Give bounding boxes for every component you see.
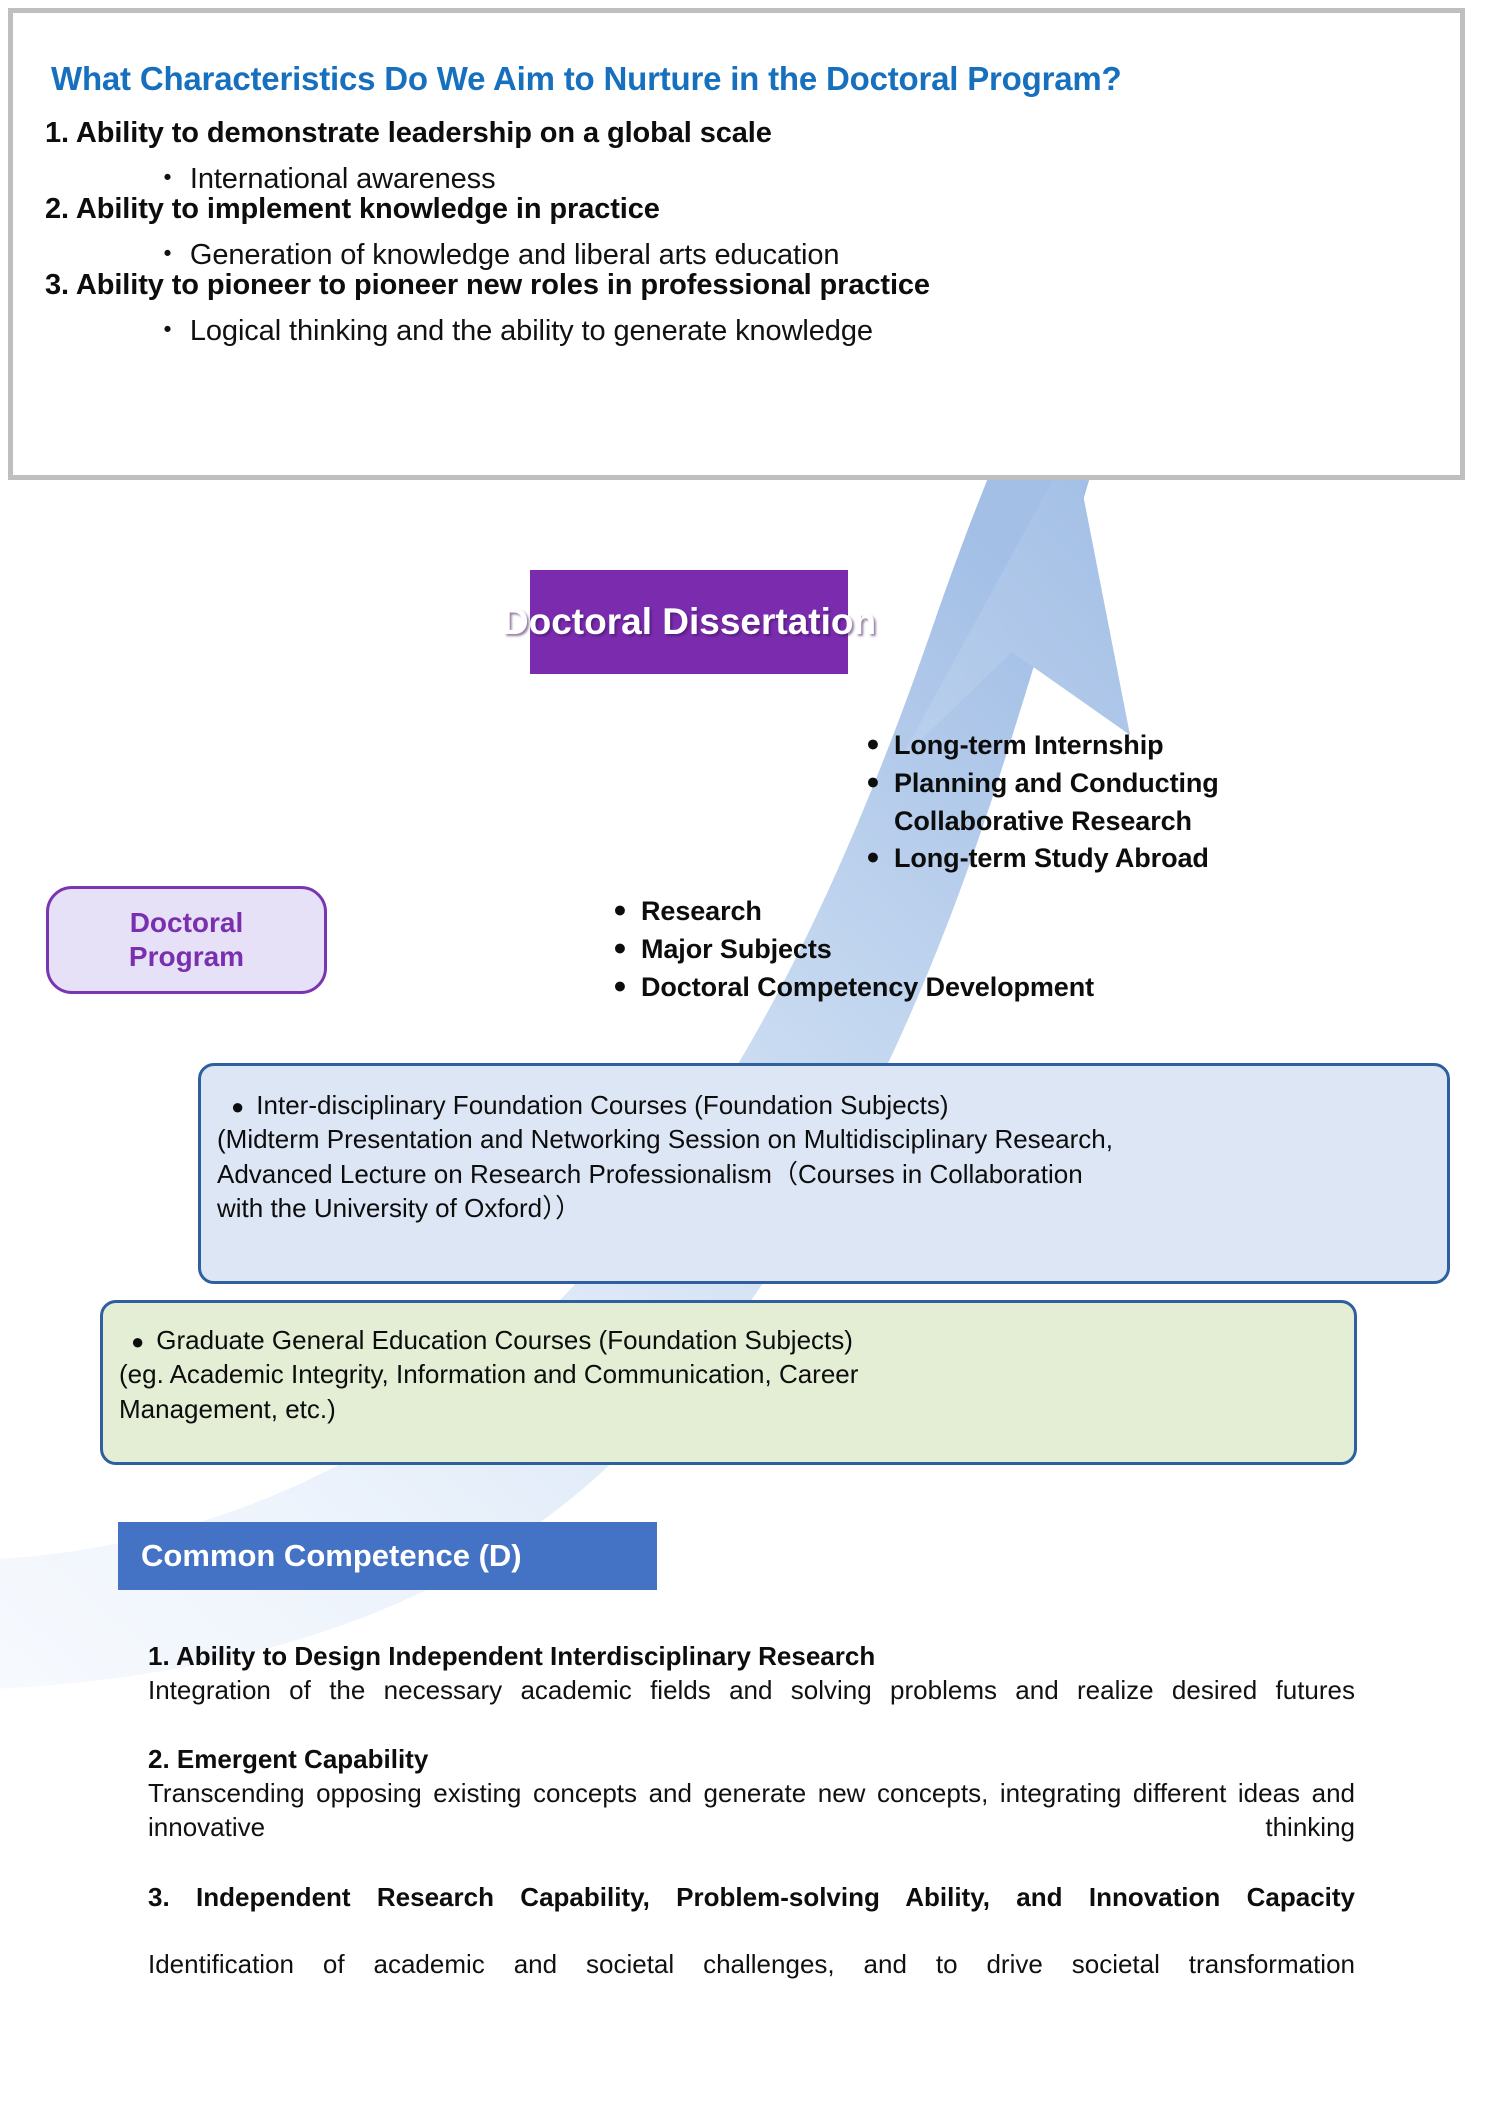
list-item-label: Long-term Study Abroad — [894, 840, 1209, 878]
arrow-head-shape — [900, 443, 1130, 760]
doctoral-dissertation-banner: Doctoral Dissertation — [530, 570, 848, 674]
foundation-courses-line-1: ●Inter-disciplinary Foundation Courses (… — [217, 1088, 1431, 1122]
interdisciplinary-foundation-courses-box: ●Inter-disciplinary Foundation Courses (… — [198, 1063, 1450, 1284]
list-item: ● Long-term Internship — [866, 727, 1219, 765]
list-item-label: Research — [641, 893, 762, 931]
characteristics-panel: What Characteristics Do We Aim to Nurtur… — [8, 8, 1465, 480]
page-title: What Characteristics Do We Aim to Nurtur… — [51, 60, 1121, 98]
list-item: ● Major Subjects — [613, 931, 1094, 969]
foundation-courses-text-1: Inter-disciplinary Foundation Courses (F… — [256, 1090, 948, 1120]
common-competence-badge: Common Competence (D) — [118, 1522, 657, 1590]
list-item-label-continued: Collaborative Research — [894, 803, 1192, 841]
graduate-general-education-courses-box: ●Graduate General Education Courses (Fou… — [100, 1300, 1357, 1465]
foundation-courses-line-4: with the University of Oxford）） — [217, 1191, 1431, 1225]
list-item: ● Long-term Study Abroad — [866, 840, 1219, 878]
competence-1-heading: 1. Ability to Design Independent Interdi… — [148, 1640, 1355, 1674]
characteristic-1-subpoint: ・ International awareness — [153, 155, 495, 197]
list-item-label: Doctoral Competency Development — [641, 969, 1094, 1007]
doctoral-program-label-line1: Doctoral — [130, 906, 244, 940]
competence-3-heading: 3. Independent Research Capability, Prob… — [148, 1881, 1355, 1949]
general-education-line-3: Management, etc.) — [119, 1392, 1338, 1426]
foundation-courses-line-2: (Midterm Presentation and Networking Ses… — [217, 1122, 1431, 1156]
foundation-courses-line-3: Advanced Lecture on Research Professiona… — [217, 1157, 1431, 1191]
list-item-label: Long-term Internship — [894, 727, 1164, 765]
core-curriculum-bullet-list: ● Research ● Major Subjects ● Doctoral C… — [613, 893, 1094, 1006]
advanced-activities-bullet-list: ● Long-term Internship ● Planning and Co… — [866, 727, 1219, 878]
list-item: ● Research — [613, 893, 1094, 931]
bullet-dot-icon: ● — [613, 969, 632, 1002]
competence-2-heading: 2. Emergent Capability — [148, 1743, 1355, 1777]
list-item-label: Major Subjects — [641, 931, 832, 969]
competence-3-description: Identification of academic and societal … — [148, 1948, 1355, 2016]
common-competence-label: Common Competence (D) — [141, 1538, 522, 1574]
list-item-continuation: Collaborative Research — [866, 803, 1219, 841]
list-item-label: Planning and Conducting — [894, 765, 1219, 803]
characteristic-1-heading: 1. Ability to demonstrate leadership on … — [45, 117, 772, 150]
doctoral-dissertation-label: Doctoral Dissertation — [502, 601, 876, 643]
bullet-dot-icon: ● — [866, 840, 885, 873]
general-education-line-2: (eg. Academic Integrity, Information and… — [119, 1357, 1338, 1391]
general-education-line-1: ●Graduate General Education Courses (Fou… — [119, 1323, 1338, 1357]
list-item: ● Planning and Conducting — [866, 765, 1219, 803]
characteristic-3-subpoint: ・ Logical thinking and the ability to ge… — [153, 307, 873, 349]
doctoral-program-label-line2: Program — [129, 940, 244, 974]
doctoral-program-box: Doctoral Program — [46, 886, 327, 994]
characteristic-3-heading: 3. Ability to pioneer to pioneer new rol… — [45, 269, 930, 302]
bullet-dot-icon: ● — [613, 931, 632, 964]
list-item: ● Doctoral Competency Development — [613, 969, 1094, 1007]
characteristic-2-heading: 2. Ability to implement knowledge in pra… — [45, 193, 660, 226]
bullet-dot-icon: ● — [866, 727, 885, 760]
bullet-dot-icon: ● — [866, 765, 885, 798]
bullet-dot-icon: ● — [231, 1094, 244, 1119]
competence-1-description: Integration of the necessary academic fi… — [148, 1674, 1355, 1742]
bullet-dot-icon: ● — [131, 1329, 144, 1354]
characteristic-2-subpoint: ・ Generation of knowledge and liberal ar… — [153, 231, 839, 273]
general-education-text-1: Graduate General Education Courses (Foun… — [156, 1325, 853, 1355]
bullet-dot-icon: ● — [613, 893, 632, 926]
competence-2-description: Transcending opposing existing concepts … — [148, 1777, 1355, 1878]
common-competence-list: 1. Ability to Design Independent Interdi… — [148, 1640, 1355, 2018]
